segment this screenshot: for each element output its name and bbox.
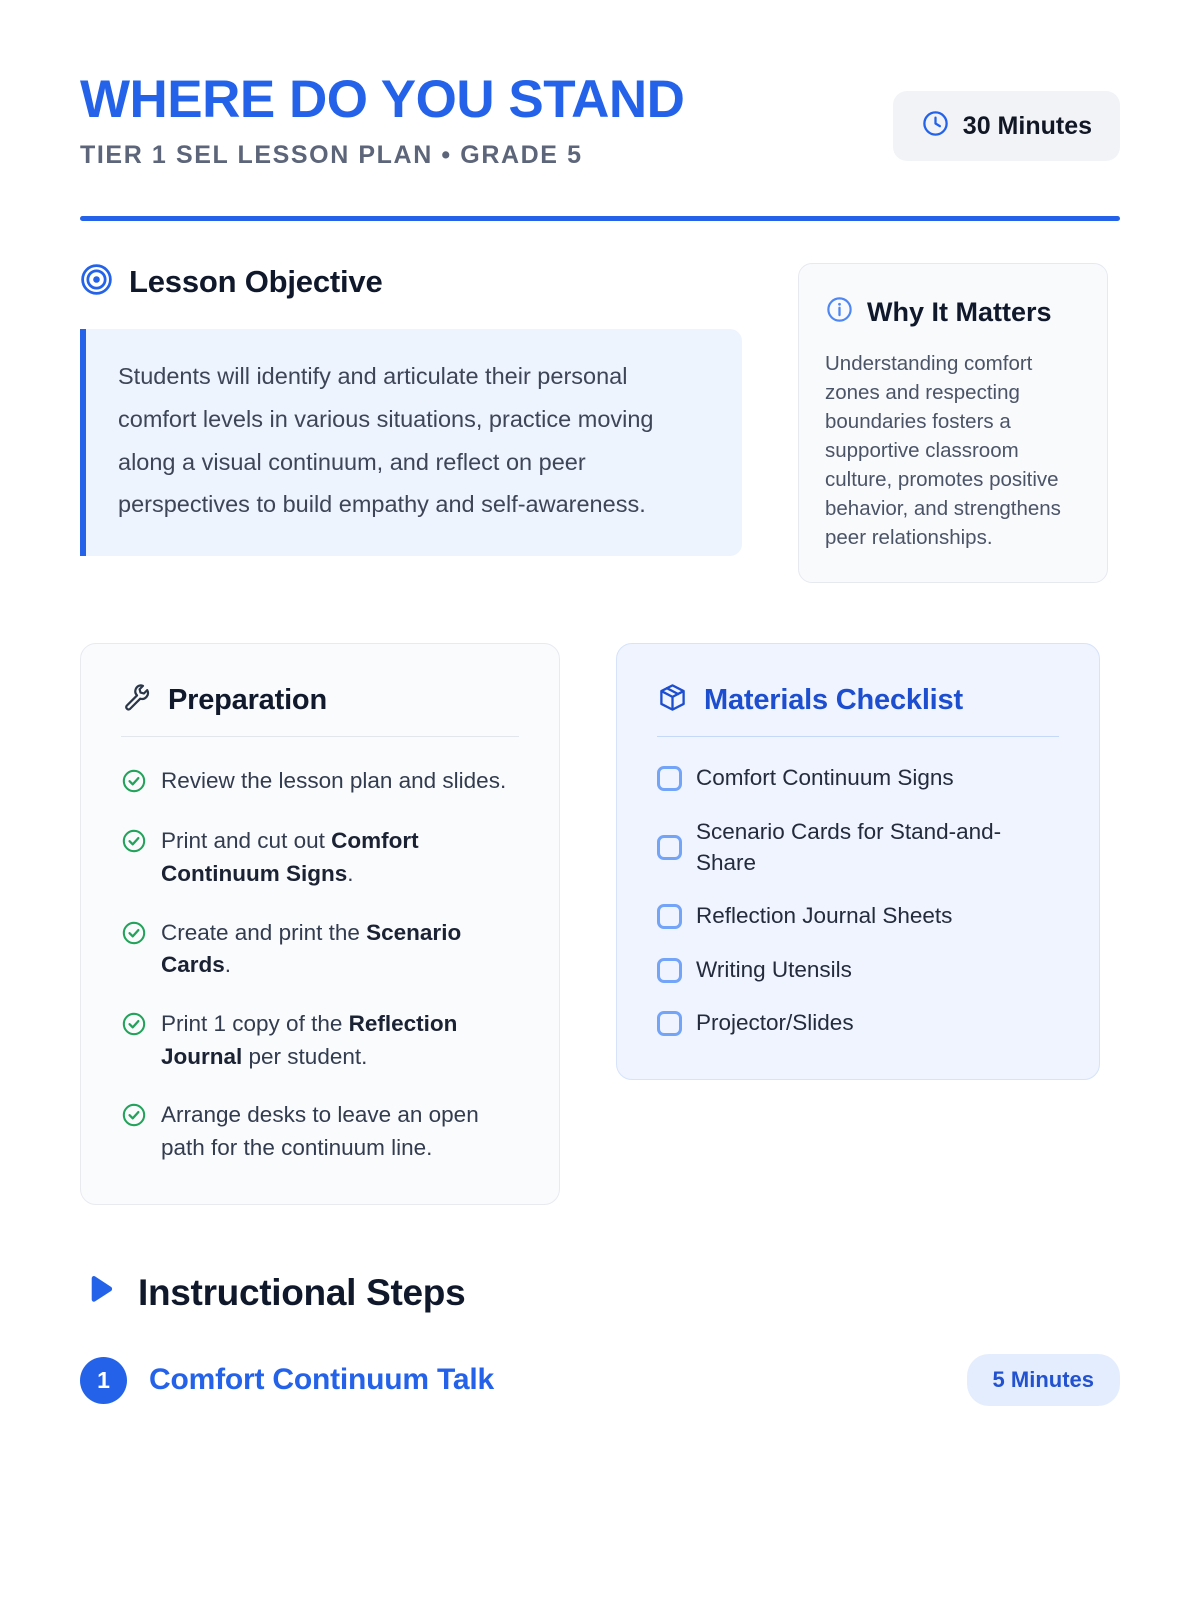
list-item-label: Scenario Cards for Stand-and-Share <box>696 817 1059 878</box>
total-duration-badge: 30 Minutes <box>893 91 1120 161</box>
why-it-matters-card: Why It Matters Understanding comfort zon… <box>798 263 1108 583</box>
info-circle-icon <box>825 295 854 329</box>
lesson-plan-page: WHERE DO YOU STAND TIER 1 SEL LESSON PLA… <box>0 0 1200 1600</box>
objective-heading: Lesson Objective <box>129 264 383 300</box>
clock-icon <box>921 109 950 143</box>
preparation-list: Review the lesson plan and slides. Print… <box>121 765 519 1164</box>
header-divider <box>80 216 1120 221</box>
list-item-text: Arrange desks to leave an open path for … <box>161 1099 519 1164</box>
list-item-label: Reflection Journal Sheets <box>696 901 952 932</box>
list-item: Review the lesson plan and slides. <box>121 765 519 799</box>
prep-materials-row: Preparation Review the lesson plan and s… <box>80 643 1120 1205</box>
materials-list: Comfort Continuum Signs Scenario Cards f… <box>657 763 1059 1039</box>
play-triangle-icon <box>80 1271 118 1314</box>
list-item-label: Projector/Slides <box>696 1008 854 1039</box>
preparation-divider <box>121 736 519 737</box>
preparation-card: Preparation Review the lesson plan and s… <box>80 643 560 1205</box>
check-circle-icon <box>121 917 147 951</box>
page-header: WHERE DO YOU STAND TIER 1 SEL LESSON PLA… <box>80 0 1120 170</box>
why-it-matters-heading-row: Why It Matters <box>825 290 1081 335</box>
checkbox-scenario-cards[interactable] <box>657 835 682 860</box>
check-circle-icon <box>121 765 147 799</box>
check-circle-icon <box>121 825 147 859</box>
total-duration-label: 30 Minutes <box>963 112 1092 141</box>
why-it-matters-heading: Why It Matters <box>867 290 1052 335</box>
objective-body: Students will identify and articulate th… <box>118 355 712 526</box>
step-row: 1 Comfort Continuum Talk 5 Minutes <box>80 1354 1120 1406</box>
list-item-label: Comfort Continuum Signs <box>696 763 954 794</box>
instructional-steps-heading-row: Instructional Steps <box>80 1271 1120 1314</box>
objective-heading-row: Lesson Objective <box>80 263 742 301</box>
list-item: Print and cut out Comfort Continuum Sign… <box>121 825 519 890</box>
materials-heading: Materials Checklist <box>704 684 963 717</box>
checkbox-reflection-journal-sheets[interactable] <box>657 904 682 929</box>
package-box-icon <box>657 682 688 718</box>
header-titles: WHERE DO YOU STAND TIER 1 SEL LESSON PLA… <box>80 72 893 170</box>
preparation-heading: Preparation <box>168 684 327 717</box>
page-title: WHERE DO YOU STAND <box>80 72 893 127</box>
list-item-text: Create and print the Scenario Cards. <box>161 917 519 982</box>
list-item-text: Print 1 copy of the Reflection Journal p… <box>161 1008 519 1073</box>
checkbox-projector-slides[interactable] <box>657 1011 682 1036</box>
checkbox-comfort-continuum-signs[interactable] <box>657 766 682 791</box>
list-item[interactable]: Projector/Slides <box>657 1008 1059 1039</box>
list-item-text: Review the lesson plan and slides. <box>161 765 506 798</box>
list-item[interactable]: Comfort Continuum Signs <box>657 763 1059 794</box>
wrench-icon <box>121 682 152 718</box>
instructional-steps-section: Instructional Steps 1 Comfort Continuum … <box>80 1271 1120 1406</box>
list-item[interactable]: Writing Utensils <box>657 955 1059 986</box>
check-circle-icon <box>121 1099 147 1133</box>
why-it-matters-body: Understanding comfort zones and respecti… <box>825 349 1081 553</box>
list-item: Create and print the Scenario Cards. <box>121 917 519 982</box>
objective-section: Lesson Objective Students will identify … <box>80 263 1120 583</box>
list-item[interactable]: Reflection Journal Sheets <box>657 901 1059 932</box>
list-item: Arrange desks to leave an open path for … <box>121 1099 519 1164</box>
target-icon <box>80 263 113 301</box>
step-duration-badge: 5 Minutes <box>967 1354 1120 1406</box>
instructional-steps-heading: Instructional Steps <box>138 1272 465 1314</box>
step-title: Comfort Continuum Talk <box>149 1363 494 1397</box>
objective-column: Lesson Objective Students will identify … <box>80 263 742 556</box>
step-number-badge: 1 <box>80 1357 127 1404</box>
list-item-text: Print and cut out Comfort Continuum Sign… <box>161 825 519 890</box>
objective-callout: Students will identify and articulate th… <box>80 329 742 556</box>
page-subtitle: TIER 1 SEL LESSON PLAN • GRADE 5 <box>80 141 893 170</box>
list-item: Print 1 copy of the Reflection Journal p… <box>121 1008 519 1073</box>
list-item-label: Writing Utensils <box>696 955 852 986</box>
checkbox-writing-utensils[interactable] <box>657 958 682 983</box>
preparation-heading-row: Preparation <box>121 682 519 736</box>
check-circle-icon <box>121 1008 147 1042</box>
materials-checklist-card: Materials Checklist Comfort Continuum Si… <box>616 643 1100 1080</box>
list-item[interactable]: Scenario Cards for Stand-and-Share <box>657 817 1059 878</box>
materials-heading-row: Materials Checklist <box>657 682 1059 736</box>
materials-divider <box>657 736 1059 737</box>
